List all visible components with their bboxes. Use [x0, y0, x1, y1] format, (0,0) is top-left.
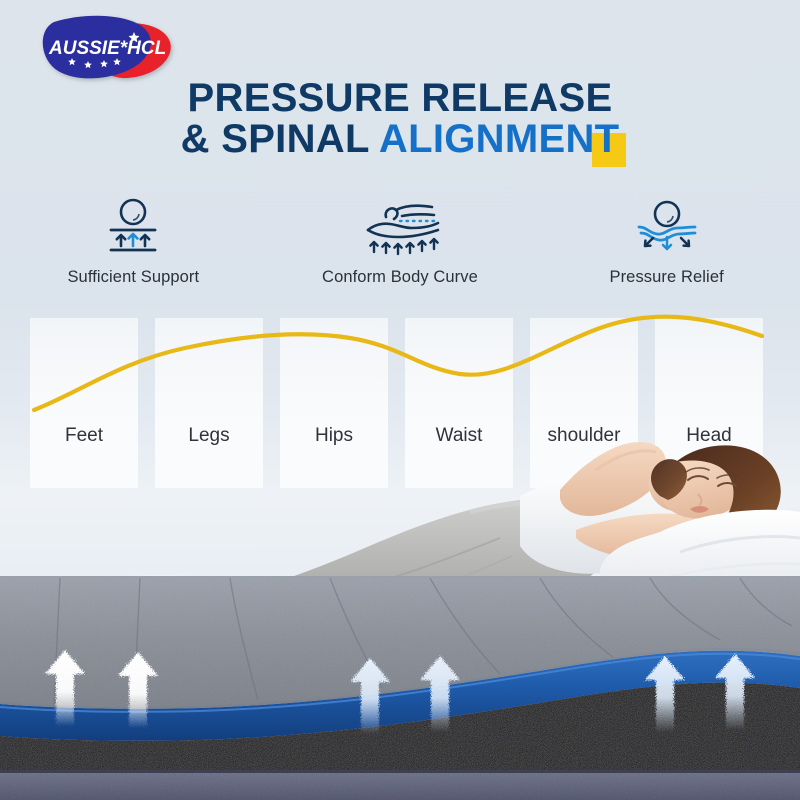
pressure-arrow: [118, 652, 158, 728]
feature-conform-body-curve: Conform Body Curve: [285, 196, 515, 287]
pressure-arrow: [45, 650, 85, 726]
headline-line-2: & SPINAL ALIGNMENT: [0, 119, 800, 160]
product-infographic: AUSSIE*HCL PRESSURE RELEASE & SPINAL ALI…: [0, 0, 800, 800]
headline-accent: ALIGNMEN: [379, 117, 595, 161]
headline-line-2-prefix: & SPINAL: [181, 117, 379, 161]
pressure-arrow: [715, 654, 755, 730]
pressure-arrow: [350, 658, 390, 734]
feature-label: Conform Body Curve: [322, 268, 478, 287]
pressure-relief-icon: [631, 196, 703, 258]
pressure-arrow: [420, 656, 460, 732]
feature-sufficient-support: Sufficient Support: [18, 196, 248, 287]
feature-pressure-relief: Pressure Relief: [552, 196, 782, 287]
conform-body-curve-icon: [350, 196, 450, 258]
feature-label: Pressure Relief: [609, 268, 723, 287]
pressure-arrow: [645, 656, 685, 732]
pressure-arrows: [0, 640, 800, 760]
feature-label: Sufficient Support: [67, 268, 199, 287]
headline-accent-tail: T: [595, 119, 620, 160]
feature-list: Sufficient Support: [0, 196, 800, 308]
logo-wordmark: AUSSIE*HCL: [48, 38, 166, 59]
bed-frame: [0, 770, 800, 800]
sufficient-support-icon: [102, 196, 164, 258]
headline-line-1: PRESSURE RELEASE: [0, 78, 800, 119]
headline: PRESSURE RELEASE & SPINAL ALIGNMENT: [0, 78, 800, 160]
